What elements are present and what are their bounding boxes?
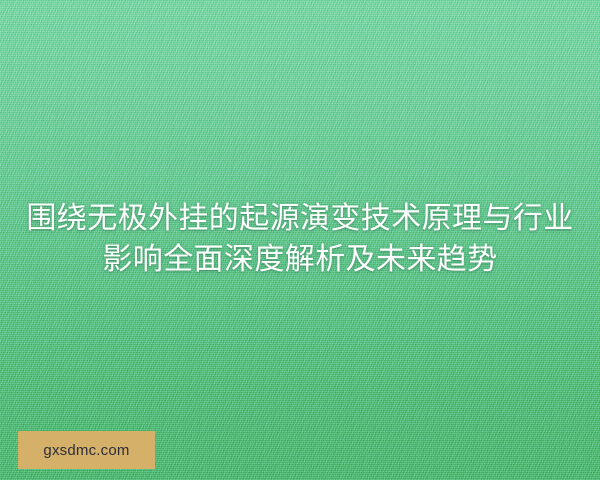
watermark-badge: gxsdmc.com (18, 431, 155, 469)
article-cover-image: 围绕无极外挂的起源演变技术原理与行业 影响全面深度解析及未来趋势 gxsdmc.… (0, 0, 600, 480)
page-title: 围绕无极外挂的起源演变技术原理与行业 影响全面深度解析及未来趋势 (22, 198, 578, 280)
watermark-domain-label: gxsdmc.com (43, 443, 129, 458)
title-block: 围绕无极外挂的起源演变技术原理与行业 影响全面深度解析及未来趋势 (0, 198, 600, 280)
